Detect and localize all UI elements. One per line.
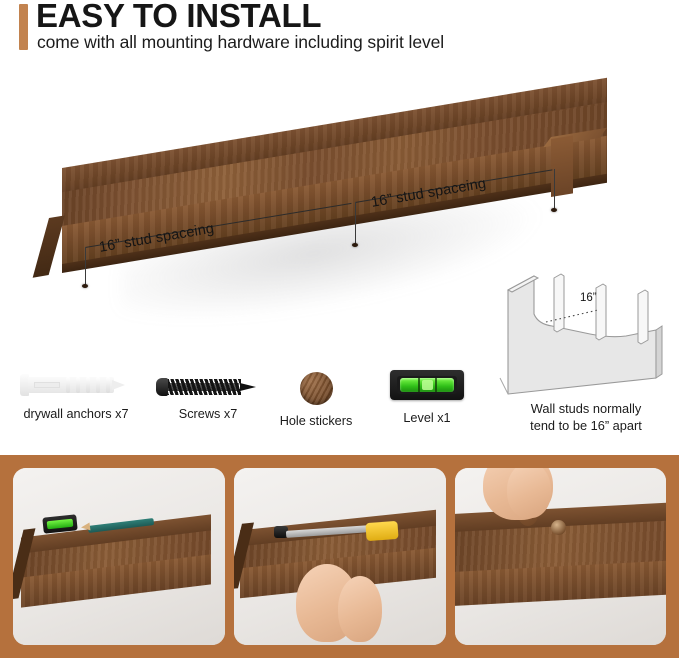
hardware-label: Screws x7: [150, 406, 266, 422]
studs-caption: Wall studs normally tend to be 16” apart: [498, 400, 674, 434]
product-infographic: EASY TO INSTALL come with all mounting h…: [0, 0, 679, 658]
wall-studs-diagram: 16” Wall studs normally tend to be 16” a…: [498, 252, 674, 448]
screwdriver-handle: [365, 521, 398, 541]
thumb: [507, 468, 551, 518]
page-subtitle: come with all mounting hardware includin…: [37, 30, 444, 54]
hardware-item-drywall-anchors: drywall anchors x7: [4, 372, 148, 422]
screw-hole: [551, 520, 566, 535]
level-vial: [47, 519, 74, 530]
hardware-item-screws: Screws x7: [150, 376, 266, 422]
photo-panel-apply-sticker: [455, 468, 666, 645]
screw-hole-marker-1: [82, 284, 88, 288]
photo-strip: [0, 455, 679, 658]
studs-caption-line2: tend to be 16” apart: [530, 418, 642, 433]
screw-icon: [156, 376, 260, 398]
thumb: [338, 576, 382, 642]
hardware-label: drywall anchors x7: [4, 406, 148, 422]
hardware-label: Hole stickers: [262, 413, 370, 429]
accent-bar: [19, 4, 28, 50]
header: EASY TO INSTALL come with all mounting h…: [0, 0, 679, 62]
leader-line-stud-3: [554, 169, 555, 209]
leader-line-stud-2: [355, 202, 356, 244]
photo-panel-drive-screw: [234, 468, 446, 645]
hole-sticker-icon: [300, 372, 333, 405]
pencil-tip: [81, 522, 91, 531]
hardware-list: drywall anchors x7 Screws x7 Hole sticke…: [0, 368, 500, 448]
wall-studs-drawing: [498, 252, 674, 402]
hardware-item-level: Level x1: [374, 370, 480, 426]
screw-hole-marker-2: [352, 243, 358, 247]
photo-panel-level-and-mark: [13, 468, 225, 645]
studs-caption-line1: Wall studs normally: [531, 401, 641, 416]
hardware-item-hole-stickers: Hole stickers: [262, 372, 370, 429]
drywall-anchor-icon: [20, 372, 132, 398]
stud-measure-label: 16”: [580, 292, 597, 304]
spirit-level-icon: [390, 370, 464, 400]
shelf-left-endcap: [33, 215, 65, 277]
leader-line-stud-1: [85, 247, 86, 285]
hardware-label: Level x1: [374, 410, 480, 426]
screw-hole-marker-3: [551, 208, 557, 212]
